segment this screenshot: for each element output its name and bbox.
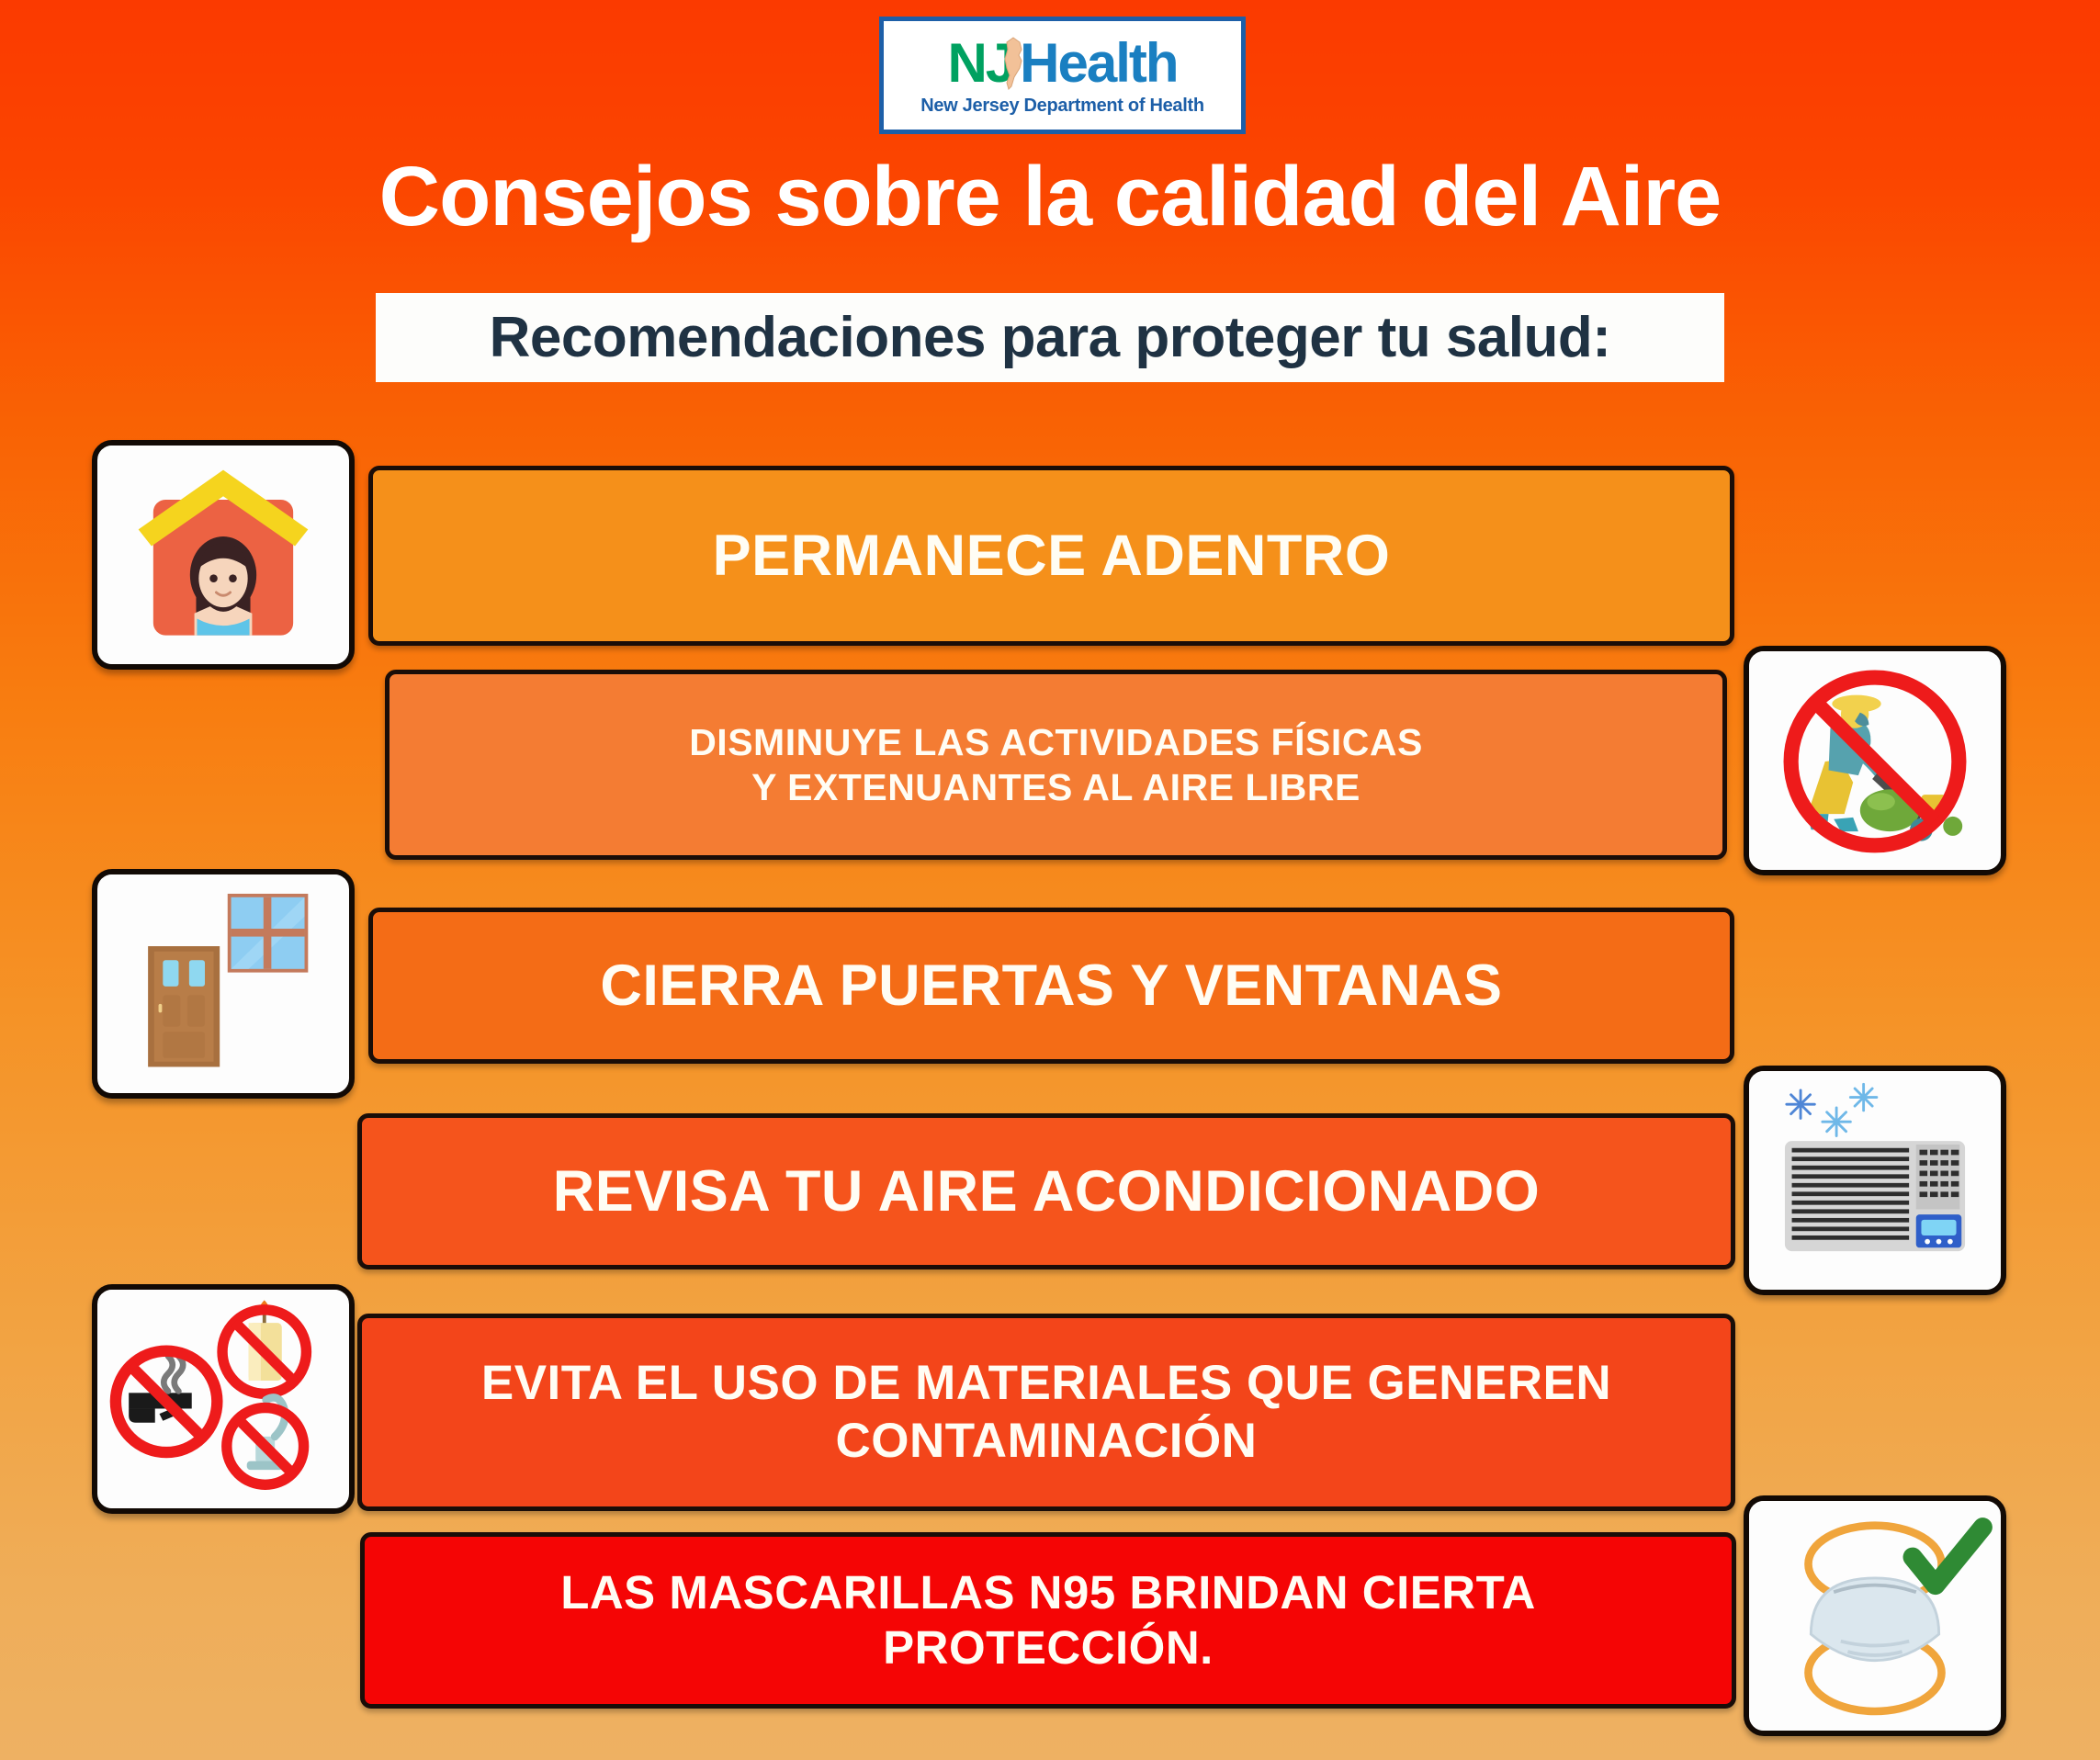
tip-text-line1: CIERRA PUERTAS Y VENTANAS [600, 952, 1502, 1020]
subtitle-banner: Recomendaciones para proteger tu salud: [376, 293, 1724, 382]
tip-text-line2: PROTECCIÓN. [883, 1620, 1214, 1675]
icon-card-house-with-girl [92, 440, 355, 670]
house-with-girl-icon [97, 446, 349, 664]
new-jersey-state-outline-icon [1001, 37, 1025, 90]
tip-text-line1: EVITA EL USO DE MATERIALES QUE GENEREN [481, 1355, 1611, 1413]
logo-health-text: Health [1020, 36, 1177, 91]
tip-bar-stay-indoors: PERMANECE ADENTRO [368, 466, 1734, 646]
icon-card-no-smoking-candle-vacuum [92, 1284, 355, 1514]
tip-bar-avoid-polluting-materials: EVITA EL USO DE MATERIALES QUE GENEREN C… [357, 1314, 1735, 1511]
icon-card-door-and-window [92, 869, 355, 1099]
nj-health-logo: NJ Health New Jersey Department of Healt… [879, 17, 1246, 134]
tip-bar-n95-masks: LAS MASCARILLAS N95 BRINDAN CIERTA PROTE… [360, 1532, 1736, 1709]
logo-department-subtitle: New Jersey Department of Health [920, 96, 1204, 117]
air-quality-infographic: NJ Health New Jersey Department of Healt… [0, 0, 2100, 1760]
icon-card-no-lawn-mowing [1744, 646, 2006, 875]
tip-text-line2: Y EXTENUANTES AL AIRE LIBRE [751, 765, 1360, 809]
tip-bar-check-air-conditioner: REVISA TU AIRE ACONDICIONADO [357, 1113, 1735, 1269]
tip-text-line2: CONTAMINACIÓN [836, 1413, 1258, 1471]
no-smoking-candle-vacuum-icon [97, 1290, 349, 1508]
icon-card-n95-mask [1744, 1495, 2006, 1736]
no-lawn-mowing-icon [1749, 651, 2001, 870]
tip-text-line1: PERMANECE ADENTRO [713, 524, 1391, 588]
tip-bar-reduce-outdoor-activity: DISMINUYE LAS ACTIVIDADES FÍSICAS Y EXTE… [385, 670, 1727, 860]
tip-text-line1: LAS MASCARILLAS N95 BRINDAN CIERTA [560, 1565, 1536, 1620]
subtitle-text: Recomendaciones para proteger tu salud: [490, 305, 1611, 370]
page-title: Consejos sobre la calidad del Aire [0, 149, 2100, 245]
air-conditioner-icon [1749, 1071, 2001, 1290]
tip-bar-close-doors-windows: CIERRA PUERTAS Y VENTANAS [368, 908, 1734, 1064]
door-and-window-icon [97, 874, 349, 1093]
icon-card-air-conditioner [1744, 1066, 2006, 1295]
logo-wordmark: NJ Health [947, 35, 1177, 92]
tip-text-line1: DISMINUYE LAS ACTIVIDADES FÍSICAS [689, 720, 1423, 764]
tip-text-line1: REVISA TU AIRE ACONDICIONADO [553, 1157, 1541, 1225]
n95-mask-check-icon [1749, 1501, 2001, 1731]
